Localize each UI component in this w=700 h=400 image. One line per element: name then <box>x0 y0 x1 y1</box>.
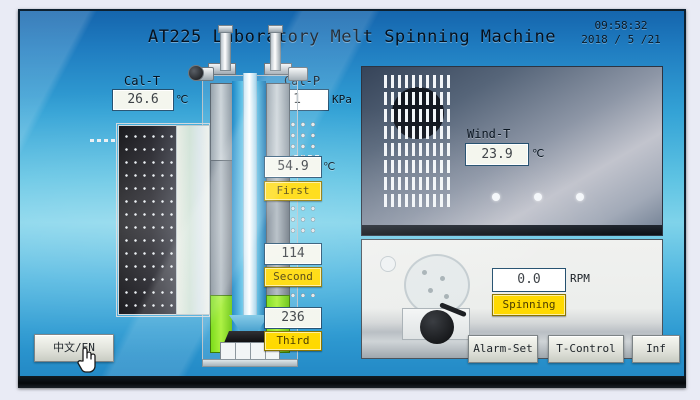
indicator-lamp-3 <box>576 193 584 201</box>
clock-date: 2018 / 5 /21 <box>566 33 676 47</box>
hmi-photo: AT225 Laboratory Melt Spinning Machine 0… <box>0 0 700 400</box>
rpm-unit: RPM <box>570 272 590 285</box>
inf-button[interactable]: Inf <box>632 335 680 363</box>
fan-grille-icon <box>384 75 454 213</box>
clock: 09:58:32 2018 / 5 /21 <box>566 19 676 47</box>
valve-knob-icon <box>188 65 204 81</box>
zone-1-unit: ℃ <box>323 160 335 173</box>
wind-t-label: Wind-T <box>467 127 510 141</box>
insulation-panel <box>176 125 210 315</box>
bezel-bottom-edge <box>18 376 686 388</box>
cal-p-unit: KPa <box>332 93 352 106</box>
zone-1-button[interactable]: First <box>264 181 322 201</box>
chamber-base <box>202 359 298 367</box>
wind-t-value[interactable]: 23.9 <box>465 143 529 166</box>
cooling-air-panel: Wind-T 23.9 ℃ <box>361 66 663 236</box>
rod-cap-right <box>268 25 283 33</box>
rpm-value[interactable]: 0.0 <box>492 268 566 292</box>
spinning-disc-icon <box>404 254 470 316</box>
clamp-right <box>288 67 308 81</box>
indicator-lamp-1 <box>492 193 500 201</box>
piston-rod-right <box>270 29 281 71</box>
zone-3-button[interactable]: Third <box>264 331 322 351</box>
zone-2-value[interactable]: 114 <box>264 243 322 265</box>
clock-time: 09:58:32 <box>566 19 676 33</box>
zone-2-button[interactable]: Second <box>264 267 322 287</box>
heater-band-left-upper <box>210 83 234 161</box>
piston-rod-left <box>220 29 231 71</box>
spinning-button[interactable]: Spinning <box>492 294 566 316</box>
perforated-plate-icon <box>118 125 178 315</box>
fiber-roll <box>420 310 454 344</box>
cylinder-core-rod <box>243 73 257 331</box>
hand-cursor-icon <box>76 345 96 373</box>
heater-band-right-upper <box>266 83 290 161</box>
panel-bezel: AT225 Laboratory Melt Spinning Machine 0… <box>18 9 686 388</box>
indicator-lamp-2 <box>534 193 542 201</box>
flow-marker-left-icon <box>90 139 116 142</box>
bobbin-ring-icon <box>380 256 396 272</box>
language-toggle-button[interactable]: 中文/EN <box>34 334 114 362</box>
alarm-set-button[interactable]: Alarm-Set <box>468 335 538 363</box>
zone-1-value[interactable]: 54.9 <box>264 156 322 178</box>
zone-3-value[interactable]: 236 <box>264 307 322 329</box>
panel-shelf <box>362 225 662 235</box>
hmi-screen: AT225 Laboratory Melt Spinning Machine 0… <box>20 11 684 376</box>
status-indicator-lamps <box>492 193 602 203</box>
t-control-button[interactable]: T-Control <box>548 335 624 363</box>
rod-cap-left <box>218 25 233 33</box>
wind-t-unit: ℃ <box>532 147 544 160</box>
